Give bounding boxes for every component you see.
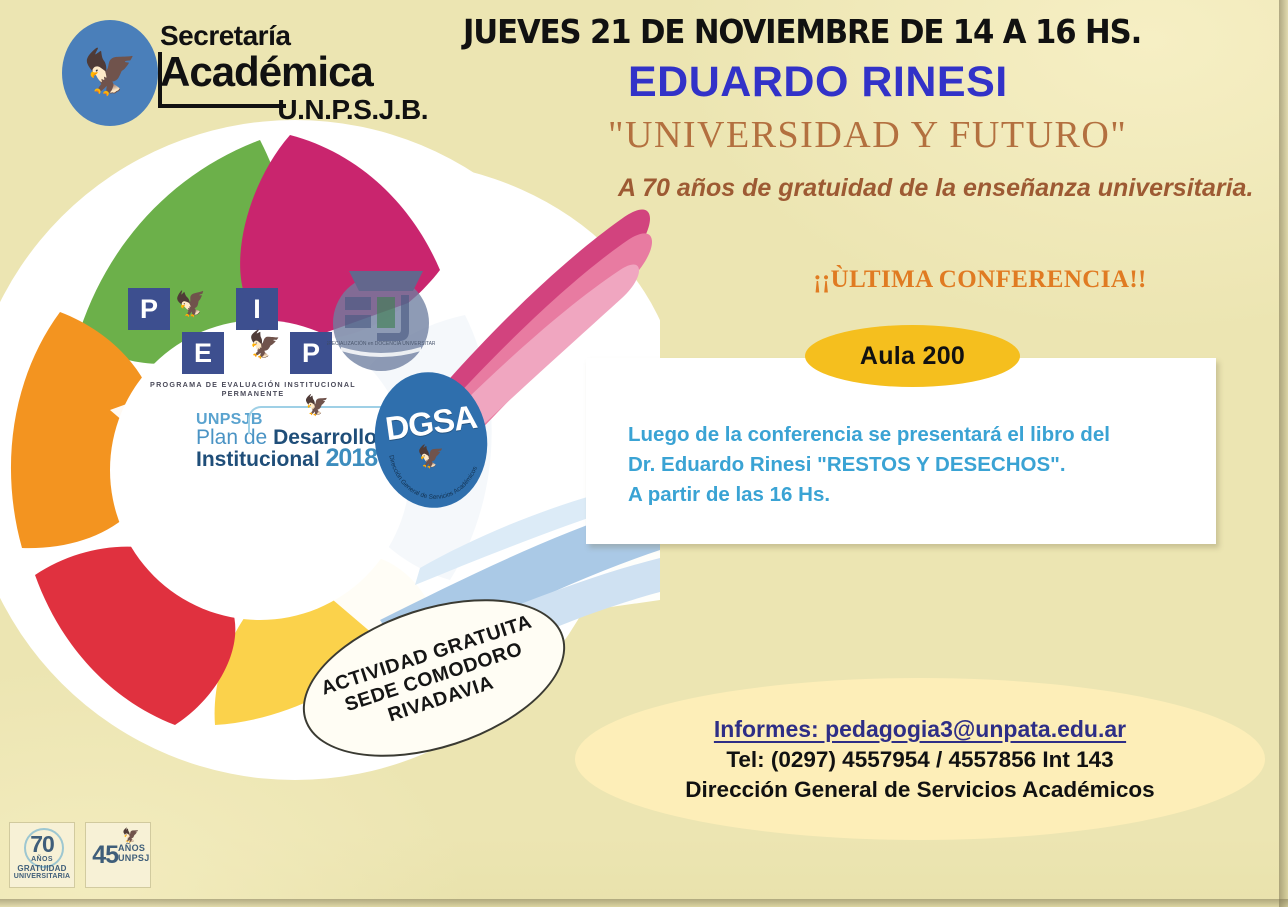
badge-45-line2: UNPSJB [118,853,150,863]
speaker-name: EDUARDO RINESI [628,58,1188,107]
contact-department: Dirección General de Servicios Académico… [685,777,1154,803]
poster-edge-right [1279,0,1288,907]
room-badge: Aula 200 [805,325,1020,387]
badge-45-anios: 🦅 45 AÑOS UNPSJB [86,823,150,887]
peip-letter-p1: P [128,288,170,330]
edu-caption: ESPECIALIZACIÓN en DOCENCIA UNIVERSITARI… [327,340,435,347]
logo-line-unpsjb: U.N.P.S.J.B. [160,96,428,124]
peip-letter-i: I [236,288,278,330]
badge-45-number: 45 [88,841,118,870]
secretaria-academica-logo: 🦅 Secretaría Académica U.N.P.S.J.B. [50,8,430,128]
info-line-3: A partir de las 16 Hs. [628,480,1188,510]
contact-email[interactable]: Informes: pedagogia3@unpata.edu.ar [714,716,1126,743]
badge-70-anios: 70 AÑOS GRATUIDAD UNIVERSITARIA [10,823,74,887]
peip-letter-e: E [182,332,224,374]
event-date-line: JUEVES 21 DE NOVIEMBRE DE 14 A 16 HS. [463,12,1114,51]
logo-line-secretaria: Secretaría [160,22,428,50]
poster-canvas: 🦅 Secretaría Académica U.N.P.S.J.B. P I … [0,0,1288,907]
badge-45-line1: AÑOS [118,843,145,853]
plan-desarrollo-logo: 🦅 UNPSJB Plan de Desarrollo Instituciona… [196,412,392,474]
dgsa-logo: DGSA 🦅 Dirección General de Servicios Ac… [375,372,487,508]
talk-title: "UNIVERSIDAD Y FUTURO" [608,113,1268,157]
last-conference-note: ¡¡ÙLTIMA CONFERENCIA!! [760,266,1200,294]
peip-letter-p2: P [290,332,332,374]
gull-icon: 🦅 [174,287,211,319]
plan-line-institucional: Institucional 2018 [196,446,392,472]
anniversary-badges: 70 AÑOS GRATUIDAD UNIVERSITARIA 🦅 45 AÑO… [10,823,150,887]
info-line-1: Luego de la conferencia se presentará el… [628,420,1188,450]
edu-logo: ESPECIALIZACIÓN en DOCENCIA UNIVERSITARI… [327,265,435,377]
badge-70-line3: UNIVERSITARIA [10,873,74,880]
peip-caption: PROGRAMA DE EVALUACIÓN INSTITUCIONAL PER… [128,380,378,398]
contact-phone: Tel: (0297) 4557954 / 4557856 Int 143 [726,747,1113,773]
gull-icon: 🦅 [246,330,282,360]
poster-edge-bottom [0,899,1288,907]
logo-line-academica: Académica [160,51,428,94]
badge-70-number: 70 [10,831,74,858]
contact-block: Informes: pedagogia3@unpata.edu.ar Tel: … [575,678,1265,840]
badge-70-line1: AÑOS [10,856,74,863]
gull-icon: 🦅 [122,827,139,844]
badge-70-line2: GRATUIDAD [10,864,74,873]
event-tagline: A 70 años de gratuidad de la enseñanza u… [618,170,1266,207]
gull-icon: 🦅 [62,20,158,126]
dgsa-arc-text: Dirección General de Servicios Académico… [387,455,479,501]
info-line-2: Dr. Eduardo Rinesi "RESTOS Y DESECHOS". [628,450,1188,480]
gull-icon: 🦅 [304,396,329,416]
info-panel-text: Luego de la conferencia se presentará el… [628,420,1188,510]
